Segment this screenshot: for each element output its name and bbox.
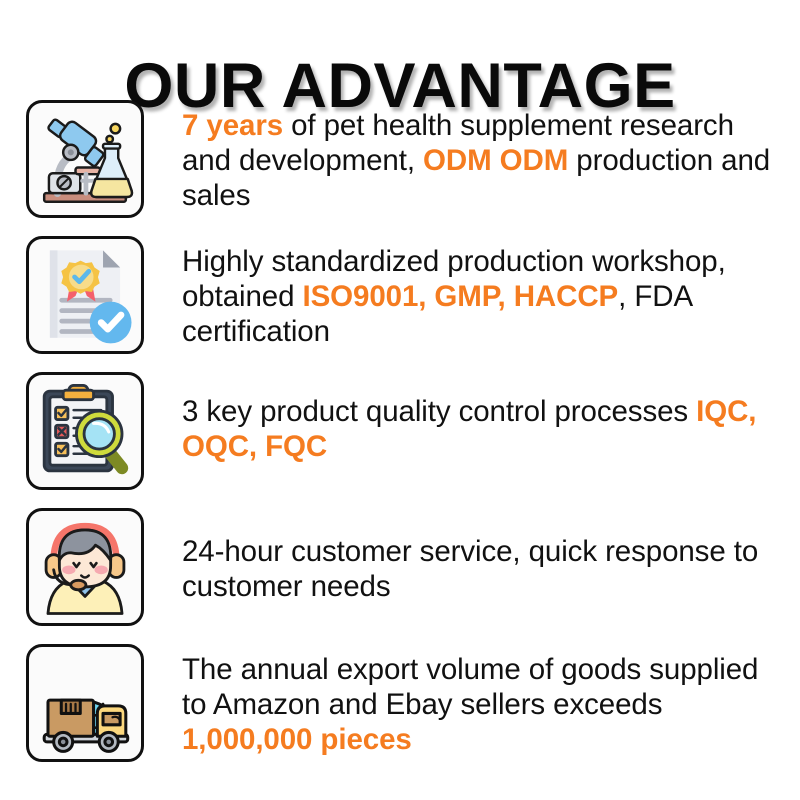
icon-frame — [26, 372, 144, 490]
list-item: 3 key product quality control processes … — [0, 372, 800, 492]
list-item: 24-hour customer service, quick response… — [0, 508, 800, 628]
icon-frame — [26, 236, 144, 354]
list-item-text: 7 years of pet health supplement researc… — [144, 100, 800, 213]
icon-frame — [26, 100, 144, 218]
highlight-text: ODM ODM — [423, 144, 568, 177]
body-text: 24-hour customer service, quick response… — [182, 535, 758, 603]
list-item: The annual export volume of goods suppli… — [0, 644, 800, 764]
customer-service-agent-icon — [29, 511, 141, 623]
certificate-document-icon — [29, 239, 141, 351]
list-item-text: The annual export volume of goods suppli… — [144, 644, 800, 757]
icon-frame — [26, 508, 144, 626]
advantage-infographic: OUR ADVANTAGE — [0, 0, 800, 800]
clipboard-magnifier-icon — [29, 375, 141, 487]
list-item-text: 24-hour customer service, quick response… — [144, 508, 800, 604]
highlight-text: ISO9001, GMP, HACCP — [303, 280, 619, 313]
list-item-text: 3 key product quality control processes … — [144, 372, 800, 464]
list-item-text: Highly standardized production workshop,… — [144, 236, 800, 349]
body-text: 3 key product quality control processes — [182, 395, 696, 428]
list-item: Highly standardized production workshop,… — [0, 236, 800, 356]
microscope-flask-icon — [29, 103, 141, 215]
icon-frame — [26, 644, 144, 762]
highlight-text: 1,000,000 pieces — [182, 723, 412, 756]
highlight-text: 7 years — [182, 109, 283, 142]
body-text: The annual export volume of goods suppli… — [182, 653, 758, 721]
list-item: 7 years of pet health supplement researc… — [0, 100, 800, 220]
globe-delivery-truck-icon — [29, 647, 141, 759]
advantage-list: 7 years of pet health supplement researc… — [0, 100, 800, 780]
